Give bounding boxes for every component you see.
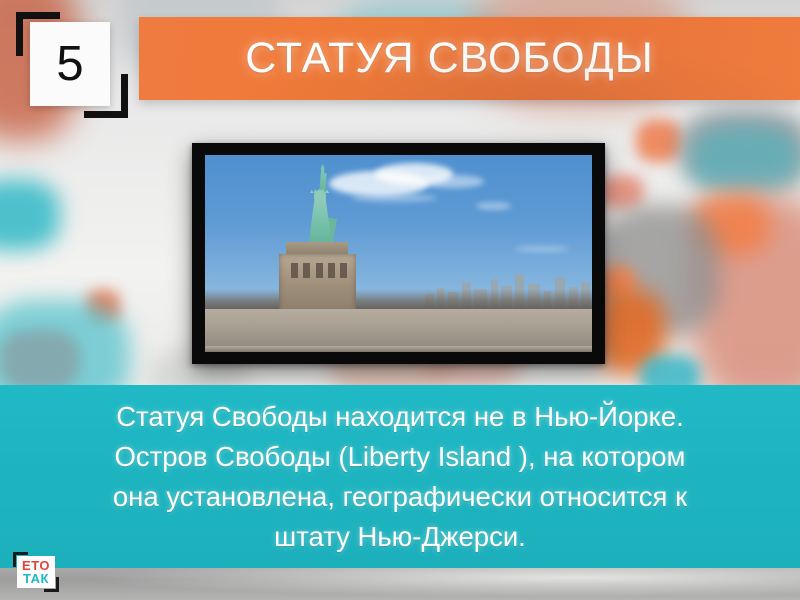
caption-text: Статуя Свободы находится не в Нью-Йорке.… <box>30 397 770 557</box>
title-bar: СТАТУЯ СВОБОДЫ <box>139 17 800 100</box>
slide-number-text: 5 <box>56 40 83 89</box>
caption-line: Остров Свободы (Liberty Island ), на кот… <box>30 437 770 477</box>
caption-line: она установлена, географически относится… <box>30 477 770 517</box>
caption-line: штату Нью-Джерси. <box>30 517 770 557</box>
watermark-line-2: ТАК <box>23 572 49 585</box>
photo-frame <box>192 143 605 364</box>
tree-line <box>205 289 592 309</box>
pedestal <box>279 254 356 313</box>
watermark-box: ЕТО ТАК <box>17 556 55 588</box>
slide: 5 СТАТУЯ СВОБОДЫ <box>0 0 800 600</box>
watermark-logo: ЕТО ТАК <box>13 552 59 592</box>
page-title: СТАТУЯ СВОБОДЫ <box>245 34 694 83</box>
caption-line: Статуя Свободы находится не в Нью-Йорке. <box>30 397 770 437</box>
bottom-strip <box>0 568 800 600</box>
island-ground <box>205 309 592 352</box>
statue-of-liberty-photo <box>205 155 592 352</box>
caption-block: Статуя Свободы находится не в Нью-Йорке.… <box>0 385 800 568</box>
slide-number-badge: 5 <box>12 8 132 120</box>
badge-square: 5 <box>30 22 110 106</box>
